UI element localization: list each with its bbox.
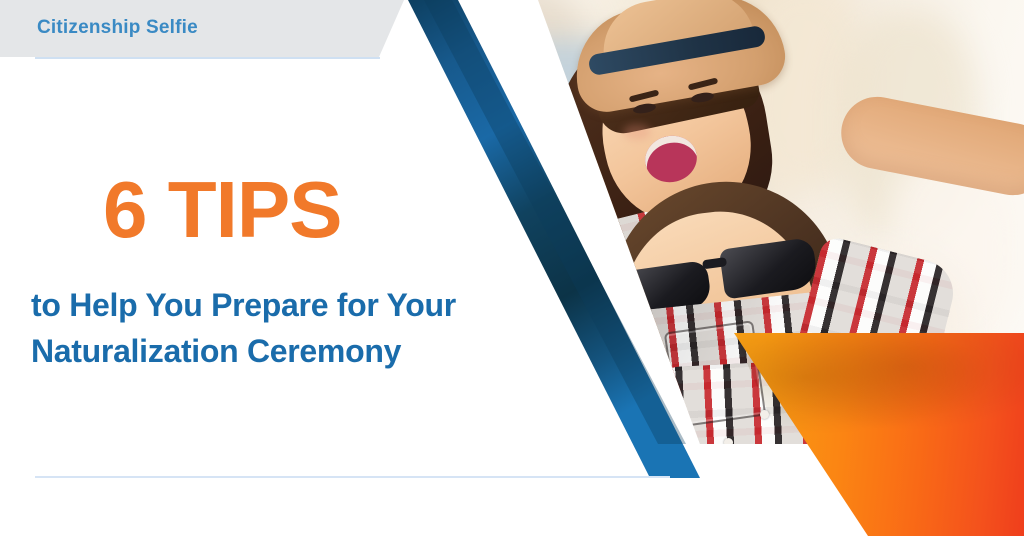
site-title: Citizenship Selfie — [37, 17, 198, 39]
page-subtitle-line2: Naturalization Ceremony — [31, 328, 456, 374]
page-title: 6 TIPS — [103, 170, 342, 250]
article-header-banner: Citizenship Selfie 6 TIPS to Help You Pr… — [0, 0, 1024, 536]
page-subtitle-line1: to Help You Prepare for Your — [31, 282, 456, 328]
divider-bottom — [35, 476, 670, 478]
page-subtitle: to Help You Prepare for Your Naturalizat… — [31, 282, 456, 375]
divider-top — [35, 57, 380, 59]
